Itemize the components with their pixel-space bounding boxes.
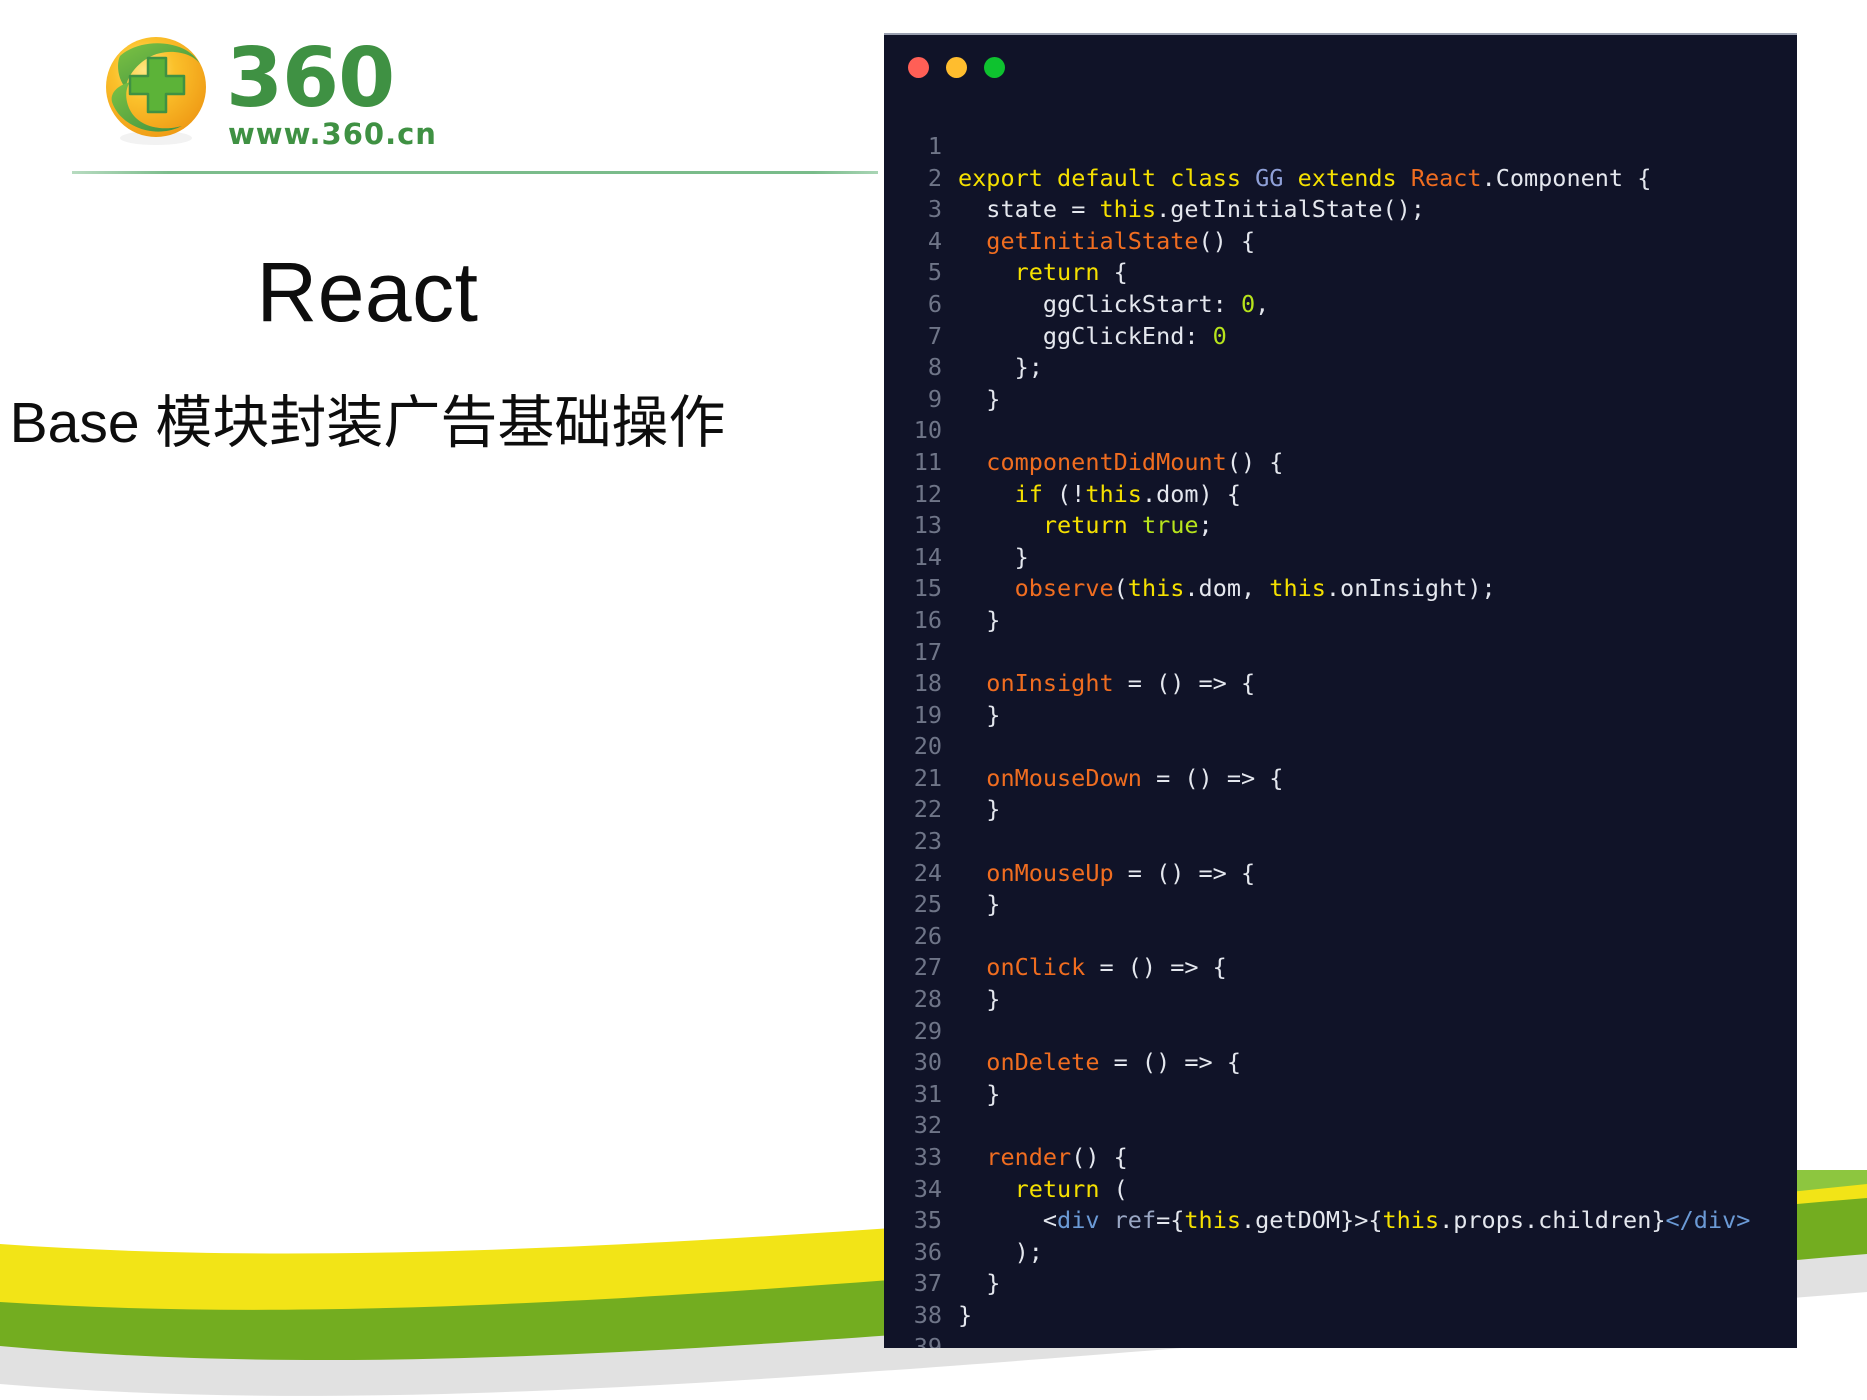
code-text: } [942, 1300, 972, 1332]
code-line: 19 } [884, 700, 1797, 732]
close-window-icon[interactable] [908, 57, 929, 78]
code-line: 3 state = this.getInitialState(); [884, 194, 1797, 226]
code-line: 27 onClick = () => { [884, 952, 1797, 984]
line-number: 17 [884, 637, 942, 669]
code-line: 22 } [884, 794, 1797, 826]
code-line: 31 } [884, 1079, 1797, 1111]
code-text: if (!this.dom) { [942, 479, 1241, 511]
code-line: 24 onMouseUp = () => { [884, 858, 1797, 890]
line-number: 10 [884, 415, 942, 447]
code-line: 2export default class GG extends React.C… [884, 163, 1797, 195]
code-line: 4 getInitialState() { [884, 226, 1797, 258]
code-line: 5 return { [884, 257, 1797, 289]
line-number: 29 [884, 1016, 942, 1048]
code-line: 25 } [884, 889, 1797, 921]
code-text: export default class GG extends React.Co… [942, 163, 1651, 195]
code-line: 13 return true; [884, 510, 1797, 542]
code-text: render() { [942, 1142, 1128, 1174]
code-line: 39 [884, 1332, 1797, 1348]
code-line: 17 [884, 637, 1797, 669]
code-line: 11 componentDidMount() { [884, 447, 1797, 479]
code-text: } [942, 1079, 1000, 1111]
code-line: 20 [884, 731, 1797, 763]
code-text: } [942, 542, 1029, 574]
code-text: } [942, 605, 1000, 637]
line-number: 3 [884, 194, 942, 226]
line-number: 7 [884, 321, 942, 353]
header-divider [72, 171, 878, 174]
line-number: 5 [884, 257, 942, 289]
minimize-window-icon[interactable] [946, 57, 967, 78]
line-number: 15 [884, 573, 942, 605]
code-text: ); [942, 1237, 1043, 1269]
code-text: } [942, 889, 1000, 921]
line-number: 1 [884, 131, 942, 163]
code-line: 33 render() { [884, 1142, 1797, 1174]
code-line: 10 [884, 415, 1797, 447]
code-line: 37 } [884, 1268, 1797, 1300]
code-text: ggClickStart: 0, [942, 289, 1269, 321]
code-text: <div ref={this.getDOM}>{this.props.child… [942, 1205, 1750, 1237]
left-content-panel: 360 www.360.cn React Base 模块封装广告基础操作 [0, 0, 880, 1400]
code-line: 12 if (!this.dom) { [884, 479, 1797, 511]
code-text: } [942, 984, 1000, 1016]
code-line: 35 <div ref={this.getDOM}>{this.props.ch… [884, 1205, 1797, 1237]
line-number: 33 [884, 1142, 942, 1174]
code-text: onInsight = () => { [942, 668, 1255, 700]
code-line: 28 } [884, 984, 1797, 1016]
code-text: state = this.getInitialState(); [942, 194, 1425, 226]
line-number: 16 [884, 605, 942, 637]
line-number: 24 [884, 858, 942, 890]
maximize-window-icon[interactable] [984, 57, 1005, 78]
code-text: onDelete = () => { [942, 1047, 1241, 1079]
line-number: 39 [884, 1332, 942, 1348]
line-number: 34 [884, 1174, 942, 1206]
code-text: } [942, 700, 1000, 732]
code-text: return { [942, 257, 1128, 289]
code-text: onClick = () => { [942, 952, 1227, 984]
code-text: }; [942, 352, 1043, 384]
line-number: 27 [884, 952, 942, 984]
line-number: 20 [884, 731, 942, 763]
360-shield-icon [96, 30, 216, 150]
code-line: 9 } [884, 384, 1797, 416]
line-number: 32 [884, 1110, 942, 1142]
line-number: 13 [884, 510, 942, 542]
line-number: 36 [884, 1237, 942, 1269]
line-number: 8 [884, 352, 942, 384]
code-line: 8 }; [884, 352, 1797, 384]
code-line: 34 return ( [884, 1174, 1797, 1206]
code-line: 15 observe(this.dom, this.onInsight); [884, 573, 1797, 605]
line-number: 4 [884, 226, 942, 258]
line-number: 37 [884, 1268, 942, 1300]
line-number: 26 [884, 921, 942, 953]
code-text: onMouseUp = () => { [942, 858, 1255, 890]
code-line: 1 [884, 131, 1797, 163]
code-text: onMouseDown = () => { [942, 763, 1283, 795]
line-number: 9 [884, 384, 942, 416]
code-line: 21 onMouseDown = () => { [884, 763, 1797, 795]
line-number: 22 [884, 794, 942, 826]
line-number: 2 [884, 163, 942, 195]
code-line: 14 } [884, 542, 1797, 574]
code-line: 32 [884, 1110, 1797, 1142]
code-text: ggClickEnd: 0 [942, 321, 1227, 353]
code-line: 26 [884, 921, 1797, 953]
window-traffic-lights [908, 57, 1005, 78]
code-text: return true; [942, 510, 1213, 542]
code-line: 23 [884, 826, 1797, 858]
code-line: 29 [884, 1016, 1797, 1048]
slide-canvas: 360 www.360.cn React Base 模块封装广告基础操作 12e… [0, 0, 1867, 1400]
page-subtitle: Base 模块封装广告基础操作 [0, 392, 735, 455]
line-number: 28 [884, 984, 942, 1016]
code-text: } [942, 1268, 1000, 1300]
code-line: 38} [884, 1300, 1797, 1332]
code-editor-area[interactable]: 12export default class GG extends React.… [884, 131, 1797, 1348]
line-number: 25 [884, 889, 942, 921]
code-line: 18 onInsight = () => { [884, 668, 1797, 700]
line-number: 30 [884, 1047, 942, 1079]
line-number: 21 [884, 763, 942, 795]
code-line: 30 onDelete = () => { [884, 1047, 1797, 1079]
code-text: } [942, 384, 1000, 416]
line-number: 12 [884, 479, 942, 511]
code-text: } [942, 794, 1000, 826]
line-number: 31 [884, 1079, 942, 1111]
code-text: componentDidMount() { [942, 447, 1283, 479]
code-line: 16 } [884, 605, 1797, 637]
line-number: 38 [884, 1300, 942, 1332]
brand-url: www.360.cn [228, 120, 437, 149]
line-number: 18 [884, 668, 942, 700]
line-number: 19 [884, 700, 942, 732]
line-number: 23 [884, 826, 942, 858]
brand-wordmark: 360 www.360.cn [226, 38, 486, 148]
code-text: observe(this.dom, this.onInsight); [942, 573, 1496, 605]
line-number: 14 [884, 542, 942, 574]
code-line: 36 ); [884, 1237, 1797, 1269]
code-text: return ( [942, 1174, 1128, 1206]
brand-name: 360 [226, 38, 394, 120]
code-text: getInitialState() { [942, 226, 1255, 258]
page-title: React [0, 250, 735, 334]
code-line: 6 ggClickStart: 0, [884, 289, 1797, 321]
line-number: 11 [884, 447, 942, 479]
code-line: 7 ggClickEnd: 0 [884, 321, 1797, 353]
brand-logo: 360 www.360.cn [96, 28, 496, 153]
code-window: 12export default class GG extends React.… [884, 33, 1797, 1348]
line-number: 35 [884, 1205, 942, 1237]
line-number: 6 [884, 289, 942, 321]
